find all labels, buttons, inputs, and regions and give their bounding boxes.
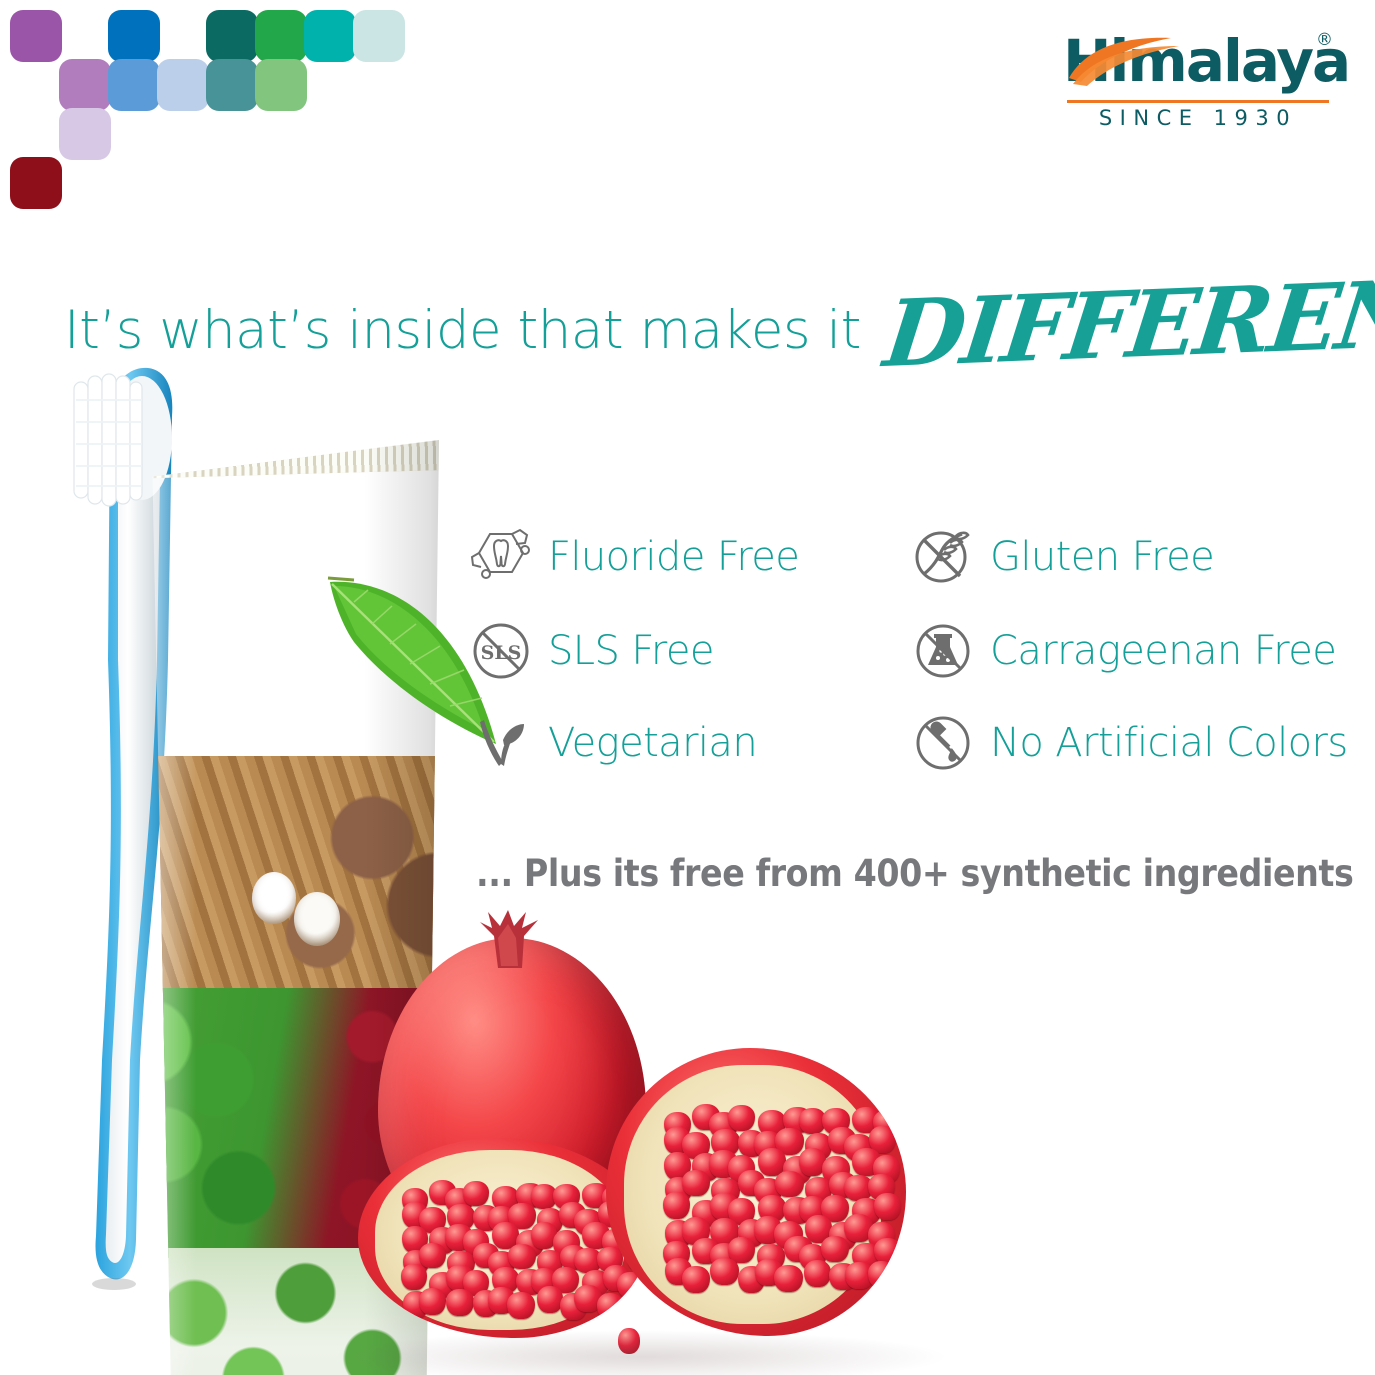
feature-label: Vegetarian	[548, 720, 757, 766]
feature-sls-free: SLS SLS Free	[470, 620, 714, 682]
feature-list: Fluoride Free SLS SLS Free Vegetarian	[470, 520, 1340, 790]
aril	[804, 1260, 831, 1287]
beaker-crossed-icon	[912, 620, 974, 682]
pomegranate-half-right	[606, 1048, 906, 1336]
logo-mark: Himalaya ®	[1063, 26, 1331, 100]
aril	[728, 1105, 755, 1131]
coconut-half-right	[294, 892, 340, 946]
tooth-molecule-icon	[470, 526, 532, 588]
wheat-crossed-icon	[912, 526, 974, 588]
registered-mark: ®	[1316, 30, 1333, 50]
brand-swatch-10	[255, 59, 307, 111]
aril	[537, 1286, 563, 1313]
brand-swatch-4	[304, 10, 356, 62]
brand-swatch-7	[108, 59, 160, 111]
aril	[401, 1264, 427, 1290]
aril	[775, 1171, 804, 1197]
feature-carrageenan-free: Carrageenan Free	[912, 620, 1336, 682]
aril	[463, 1181, 489, 1206]
aril	[419, 1243, 446, 1268]
feature-no-artificial-colors: No Artificial Colors	[912, 712, 1348, 774]
brand-swatch-12	[10, 157, 62, 209]
aril	[682, 1170, 710, 1196]
feature-fluoride-free: Fluoride Free	[470, 526, 799, 588]
aril	[874, 1238, 901, 1264]
brand-swatch-11	[59, 108, 111, 160]
himalaya-logo: Himalaya ® SINCE 1930	[1063, 26, 1331, 138]
footnote-text: ... Plus its free from 400+ synthetic in…	[476, 852, 1356, 895]
aril	[507, 1292, 535, 1319]
logo-wordmark: Himalaya	[1063, 24, 1331, 98]
pomegranate-group	[350, 910, 950, 1370]
feature-label: No Artificial Colors	[990, 720, 1348, 766]
aril	[874, 1193, 901, 1220]
pomegranate-half-left	[358, 1138, 648, 1338]
brand-swatch-9	[206, 59, 258, 111]
brand-swatch-6	[59, 59, 111, 111]
svg-text:SLS: SLS	[481, 642, 522, 664]
aril	[419, 1288, 446, 1315]
brand-swatch-8	[157, 59, 209, 111]
aril	[508, 1244, 536, 1269]
aril	[446, 1289, 474, 1316]
brand-swatch-2	[206, 10, 258, 62]
ground-shadow	[330, 1330, 950, 1375]
aril	[868, 1261, 895, 1288]
logo-tagline: SINCE 1930	[1067, 106, 1329, 130]
poster-canvas: Himalaya ® SINCE 1930 It’s what’s inside…	[0, 0, 1375, 1375]
pomegranate-crown-icon	[468, 908, 552, 970]
brand-swatch-0	[10, 10, 62, 62]
aril	[663, 1192, 690, 1219]
feature-vegetarian: Vegetarian	[470, 712, 757, 774]
coconut-half-left	[252, 872, 296, 924]
aril	[774, 1265, 803, 1292]
brand-swatch-1	[108, 10, 160, 62]
aril	[682, 1266, 710, 1293]
brand-swatch-grid	[0, 0, 420, 210]
feature-label: SLS Free	[548, 628, 714, 674]
brand-swatch-3	[255, 10, 307, 62]
feature-label: Gluten Free	[990, 534, 1214, 580]
brand-swatch-5	[353, 10, 405, 62]
sls-crossed-icon: SLS	[470, 620, 532, 682]
aril	[821, 1236, 849, 1262]
dropper-crossed-icon	[912, 712, 974, 774]
feature-label: Carrageenan Free	[990, 628, 1336, 674]
leaf-v-icon	[470, 712, 532, 774]
feature-gluten-free: Gluten Free	[912, 526, 1214, 588]
aril	[710, 1258, 739, 1285]
feature-label: Fluoride Free	[548, 534, 799, 580]
logo-divider	[1067, 100, 1329, 103]
